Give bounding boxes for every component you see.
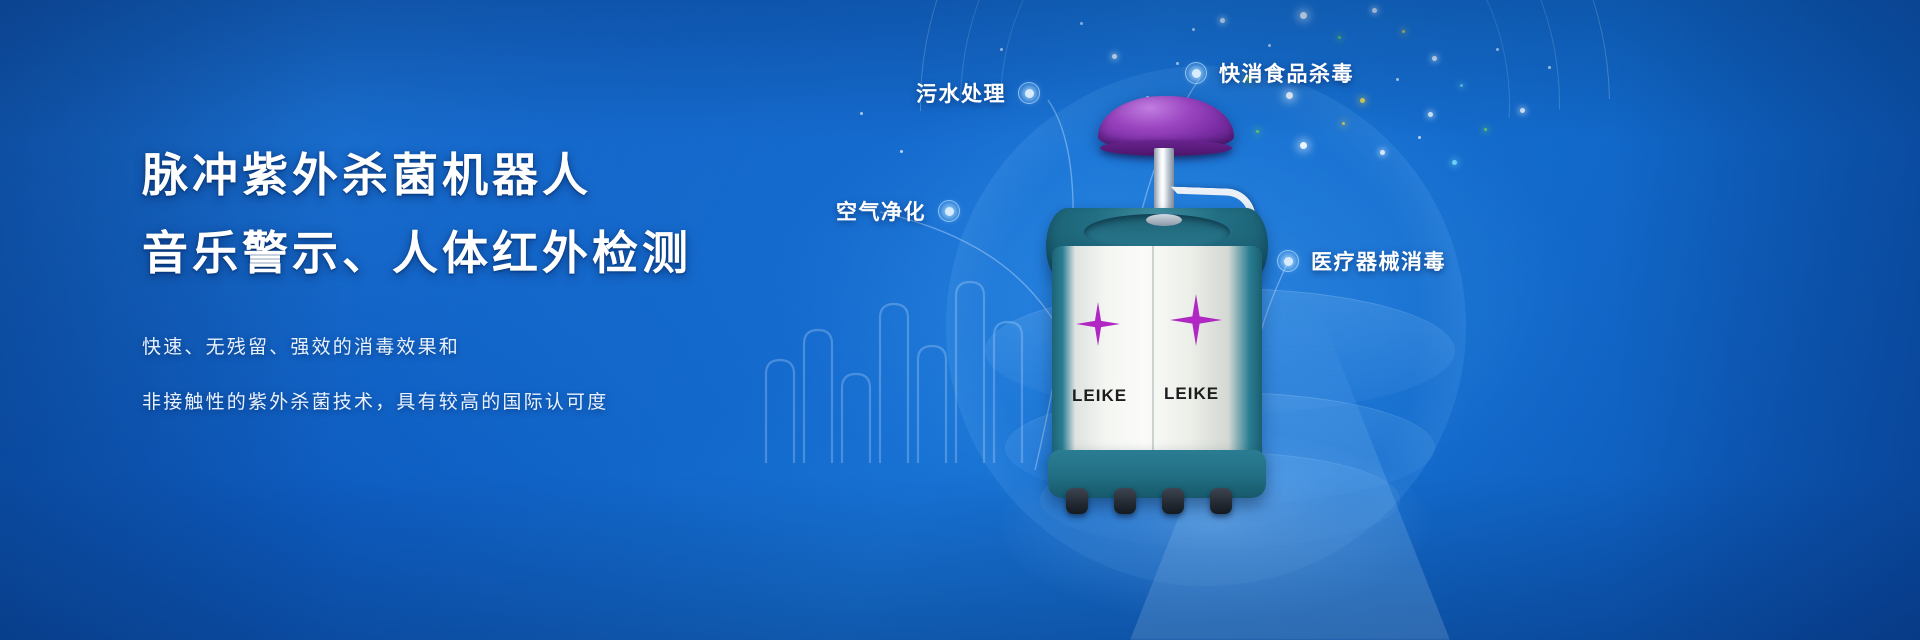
callout-medical-device-disinfection: 医疗器械消毒 [1277,246,1446,276]
node-marker-icon [1018,82,1040,104]
node-marker-icon [938,200,960,222]
product-hero-banner: LEIKE LEIKE 污水处理 快消食品杀毒 空气净化 医疗器械消毒 脉冲紫外… [0,0,1920,640]
callout-food-disinfection: 快消食品杀毒 [1185,58,1354,88]
brand-label-left: LEIKE [1072,386,1127,406]
callout-sewage-treatment: 污水处理 [916,78,1040,108]
callout-label: 医疗器械消毒 [1311,246,1446,276]
callout-label: 污水处理 [916,78,1006,108]
caster-wheel-icon [1114,488,1136,514]
robot-body-seam [1152,246,1154,462]
brand-label-right: LEIKE [1164,384,1219,404]
hero-copy-block: 脉冲紫外杀菌机器人 音乐警示、人体红外检测 快速、无残留、强效的消毒效果和 非接… [142,152,902,412]
subtext-line-1: 快速、无残留、强效的消毒效果和 [142,338,902,357]
node-marker-icon [1185,62,1207,84]
uv-disinfection-robot: LEIKE LEIKE [1030,96,1280,496]
callout-label: 快消食品杀毒 [1219,58,1354,88]
caster-wheel-icon [1162,488,1184,514]
robot-body-panel [1052,246,1262,462]
caster-wheel-icon [1210,488,1232,514]
node-marker-icon [1277,250,1299,272]
subtext-line-2: 非接触性的紫外杀菌技术，具有较高的国际认可度 [142,393,902,412]
headline-line-2: 音乐警示、人体红外检测 [142,230,902,276]
headline-line-1: 脉冲紫外杀菌机器人 [142,152,902,198]
pole-base-collar [1146,214,1182,226]
caster-wheel-icon [1066,488,1088,514]
